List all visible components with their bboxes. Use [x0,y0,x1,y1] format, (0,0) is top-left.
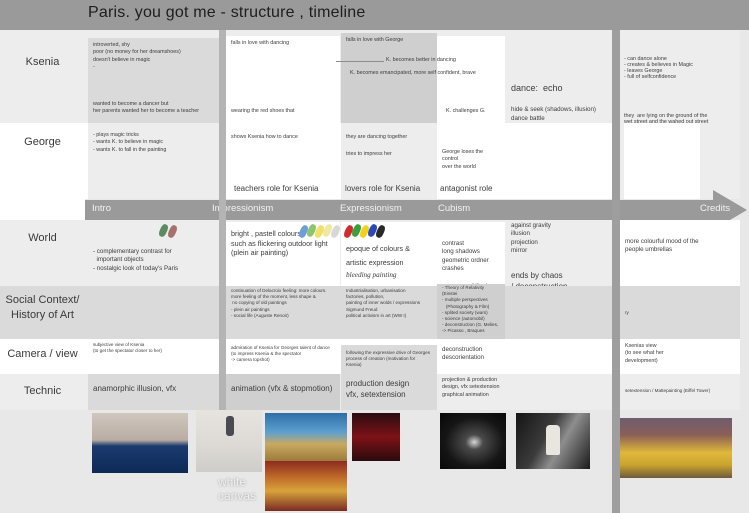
george-dancing-together: they are dancing together [341,123,437,145]
george-tries-to-impress: tries to impress her [341,145,437,162]
ksenia-intro-traits: introverted, shy poor (no money for her … [88,38,223,75]
thumb-street-projection-photo[interactable] [92,413,188,473]
thumb-expressionist-field-painting[interactable] [265,461,347,511]
ksenia-red-shoes: wearing the red shoes that [226,104,300,119]
world-expressionism-line2: artistic expression [341,258,437,272]
thumb-woman-white-dress-render[interactable] [516,413,590,469]
george-lovers-role: lovers role for Ksenia [345,184,441,193]
world-credits-text: more colourful mood of the people umbrel… [620,220,740,259]
ksenia-intro-card[interactable]: introverted, shy poor (no money for her … [88,38,223,123]
social-expressionism-text: Industrialisation, urbanisation factorie… [341,286,437,323]
world-expressionism-line3: bleeding painting [341,271,437,285]
world-against-gravity: against gravity illusion projection mirr… [506,220,616,259]
world-intro-card[interactable]: - complementary contrast for important o… [88,222,223,286]
george-teachers-role: teachers role for Ksenia [234,184,344,193]
camera-cubism-spacer [506,339,618,374]
ksenia-credits-traits: - can dance alone - creates & believes i… [624,56,693,80]
ksenia-rule [336,61,384,62]
row-band-ksenia [0,30,85,123]
technic-cubism-text: projection & production design, vfx sete… [437,374,517,403]
ksenia-expressionism-card[interactable]: falls in love with George [341,33,437,123]
swatch-group-intro [160,224,190,238]
separator-bottom [612,410,620,513]
ksenia-intro-wanted: wanted to become a dancer but her parent… [88,97,223,120]
row-label-social-context: Social Context/ History of Art [0,288,85,328]
ksenia-becomes-emancipated: K. becomes emancipated, more self confid… [350,70,476,76]
social-credits-card[interactable]: ry [620,286,740,339]
ksenia-falls-in-love-dancing: falls in love with dancing [226,36,340,51]
ksenia-falls-in-love-george: falls in love with George [341,33,437,48]
camera-credits-card[interactable]: Ksenias view (to see what her developmen… [620,339,740,374]
world-cubism-contrast: contrast long shadows geometric ordner c… [437,222,505,277]
camera-credits-text: Ksenias view (to see what her developmen… [620,339,740,369]
social-cubism-card[interactable]: - Theory of Relativity (Einstei - multip… [437,284,505,339]
timeline-phase-intro[interactable]: Intro [92,203,111,214]
social-impressionism-text: continuation of Delacroix feeling: more … [226,286,340,323]
ksenia-challenges-george: K. challenges G. [446,108,486,114]
social-expressionism-card[interactable]: Industrialisation, urbanisation factorie… [341,286,437,339]
social-cubism-text: - Theory of Relativity (Einstei - multip… [437,284,505,339]
thumb-van-gogh-field-painting[interactable] [265,413,347,461]
george-shows-how-to-dance: shows Ksenia how to dance [226,123,340,145]
row-label-george: George [0,128,85,156]
timeline-phase-credits[interactable]: Credits [700,203,730,214]
social-credits-text: ry [620,286,740,320]
page-title: Paris. you got me - structure , timeline [88,4,365,22]
technic-intro-card[interactable]: anamorphic illusion, vfx [88,374,223,410]
technic-credits-card[interactable]: setextension / Mattepainting (Eiffel Tow… [620,374,740,410]
title-bar: Paris. you got me - structure , timeline [0,0,749,30]
technic-intro-text: anamorphic illusion, vfx [88,374,223,399]
world-credits-card[interactable]: more colourful mood of the people umbrel… [620,220,740,286]
ksenia-dance-echo: dance: echo [506,78,616,98]
camera-cubism-left-text: following the expressive drive of George… [341,345,437,373]
george-intro-card[interactable]: - plays magic tricks - wants K. to belie… [88,123,223,199]
social-intro-card[interactable] [88,286,223,339]
slide-board: Paris. you got me - structure , timeline… [0,0,749,513]
separator-intro-impressionism [219,30,226,410]
george-credits-card[interactable] [624,123,700,199]
george-loses-control: George loses the control over the world [437,123,505,175]
timeline-phase-expressionism[interactable]: Expressionism [340,203,402,214]
row-label-world: World [0,224,85,252]
george-cubism-card[interactable]: George loses the control over the world … [437,123,505,199]
world-cubism-card[interactable]: contrast long shadows geometric ordner c… [437,222,505,286]
world-intro-text: - complementary contrast for important o… [88,222,223,277]
timeline-phase-cubism[interactable]: Cubism [438,203,470,214]
technic-expressionism-card[interactable]: production design vfx, setextension [341,374,437,410]
george-expressionism-card[interactable]: they are dancing together tries to impre… [341,123,437,199]
technic-credits-text: setextension / Mattepainting (Eiffel Tow… [620,374,740,398]
camera-cubism-left-card[interactable]: following the expressive drive of George… [341,345,437,374]
social-impressionism-card[interactable]: continuation of Delacroix feeling: more … [226,286,340,339]
social-cubism-right-card [506,286,618,339]
george-antagonist-role: antagonist role [440,184,512,193]
thumb-snow-walker-photo[interactable] [196,410,262,472]
technic-impressionism-text: animation (vfx & stopmotion) [226,374,340,399]
ksenia-dance-card[interactable]: dance: echo hide & seek (shadows, illusi… [506,78,616,123]
row-label-camera-view: Camera / view [0,341,85,367]
swatch-group-expressionism [345,224,391,238]
camera-cubism-right-text: deconstruction descorientation [437,339,505,367]
technic-cubism-card[interactable]: projection & production design, vfx sete… [437,374,517,410]
world-cubism-right-card[interactable]: against gravity illusion projection mirr… [506,220,616,286]
ksenia-impressionism-card[interactable]: falls in love with dancing wearing the r… [226,36,340,123]
white-canvas-label: white canvas [218,476,256,504]
thumb-red-dark-figure-photo[interactable] [352,413,400,461]
thumb-umbrellas-painting[interactable] [620,418,732,478]
separator-cubism-credits [612,30,620,410]
camera-cubism-right-card[interactable]: deconstruction descorientation [437,339,505,374]
row-label-ksenia: Ksenia [0,48,85,76]
technic-impressionism-card[interactable]: animation (vfx & stopmotion) [226,374,340,410]
swatch-group-impressionism [300,224,346,238]
row-label-technic: Technic [0,378,85,404]
camera-intro-card[interactable]: subjective view of Ksenia (to get the sp… [88,339,223,374]
george-intro-traits: - plays magic tricks - wants K. to belie… [88,123,223,158]
camera-intro-text: subjective view of Ksenia (to get the sp… [88,339,223,358]
technic-expressionism-text: production design vfx, setextension [341,374,437,405]
thumb-dark-corridor-render[interactable] [440,413,506,469]
george-impressionism-card[interactable]: shows Ksenia how to dance teachers role … [226,123,340,199]
ksenia-becomes-better: K. becomes better in dancing [386,57,456,63]
